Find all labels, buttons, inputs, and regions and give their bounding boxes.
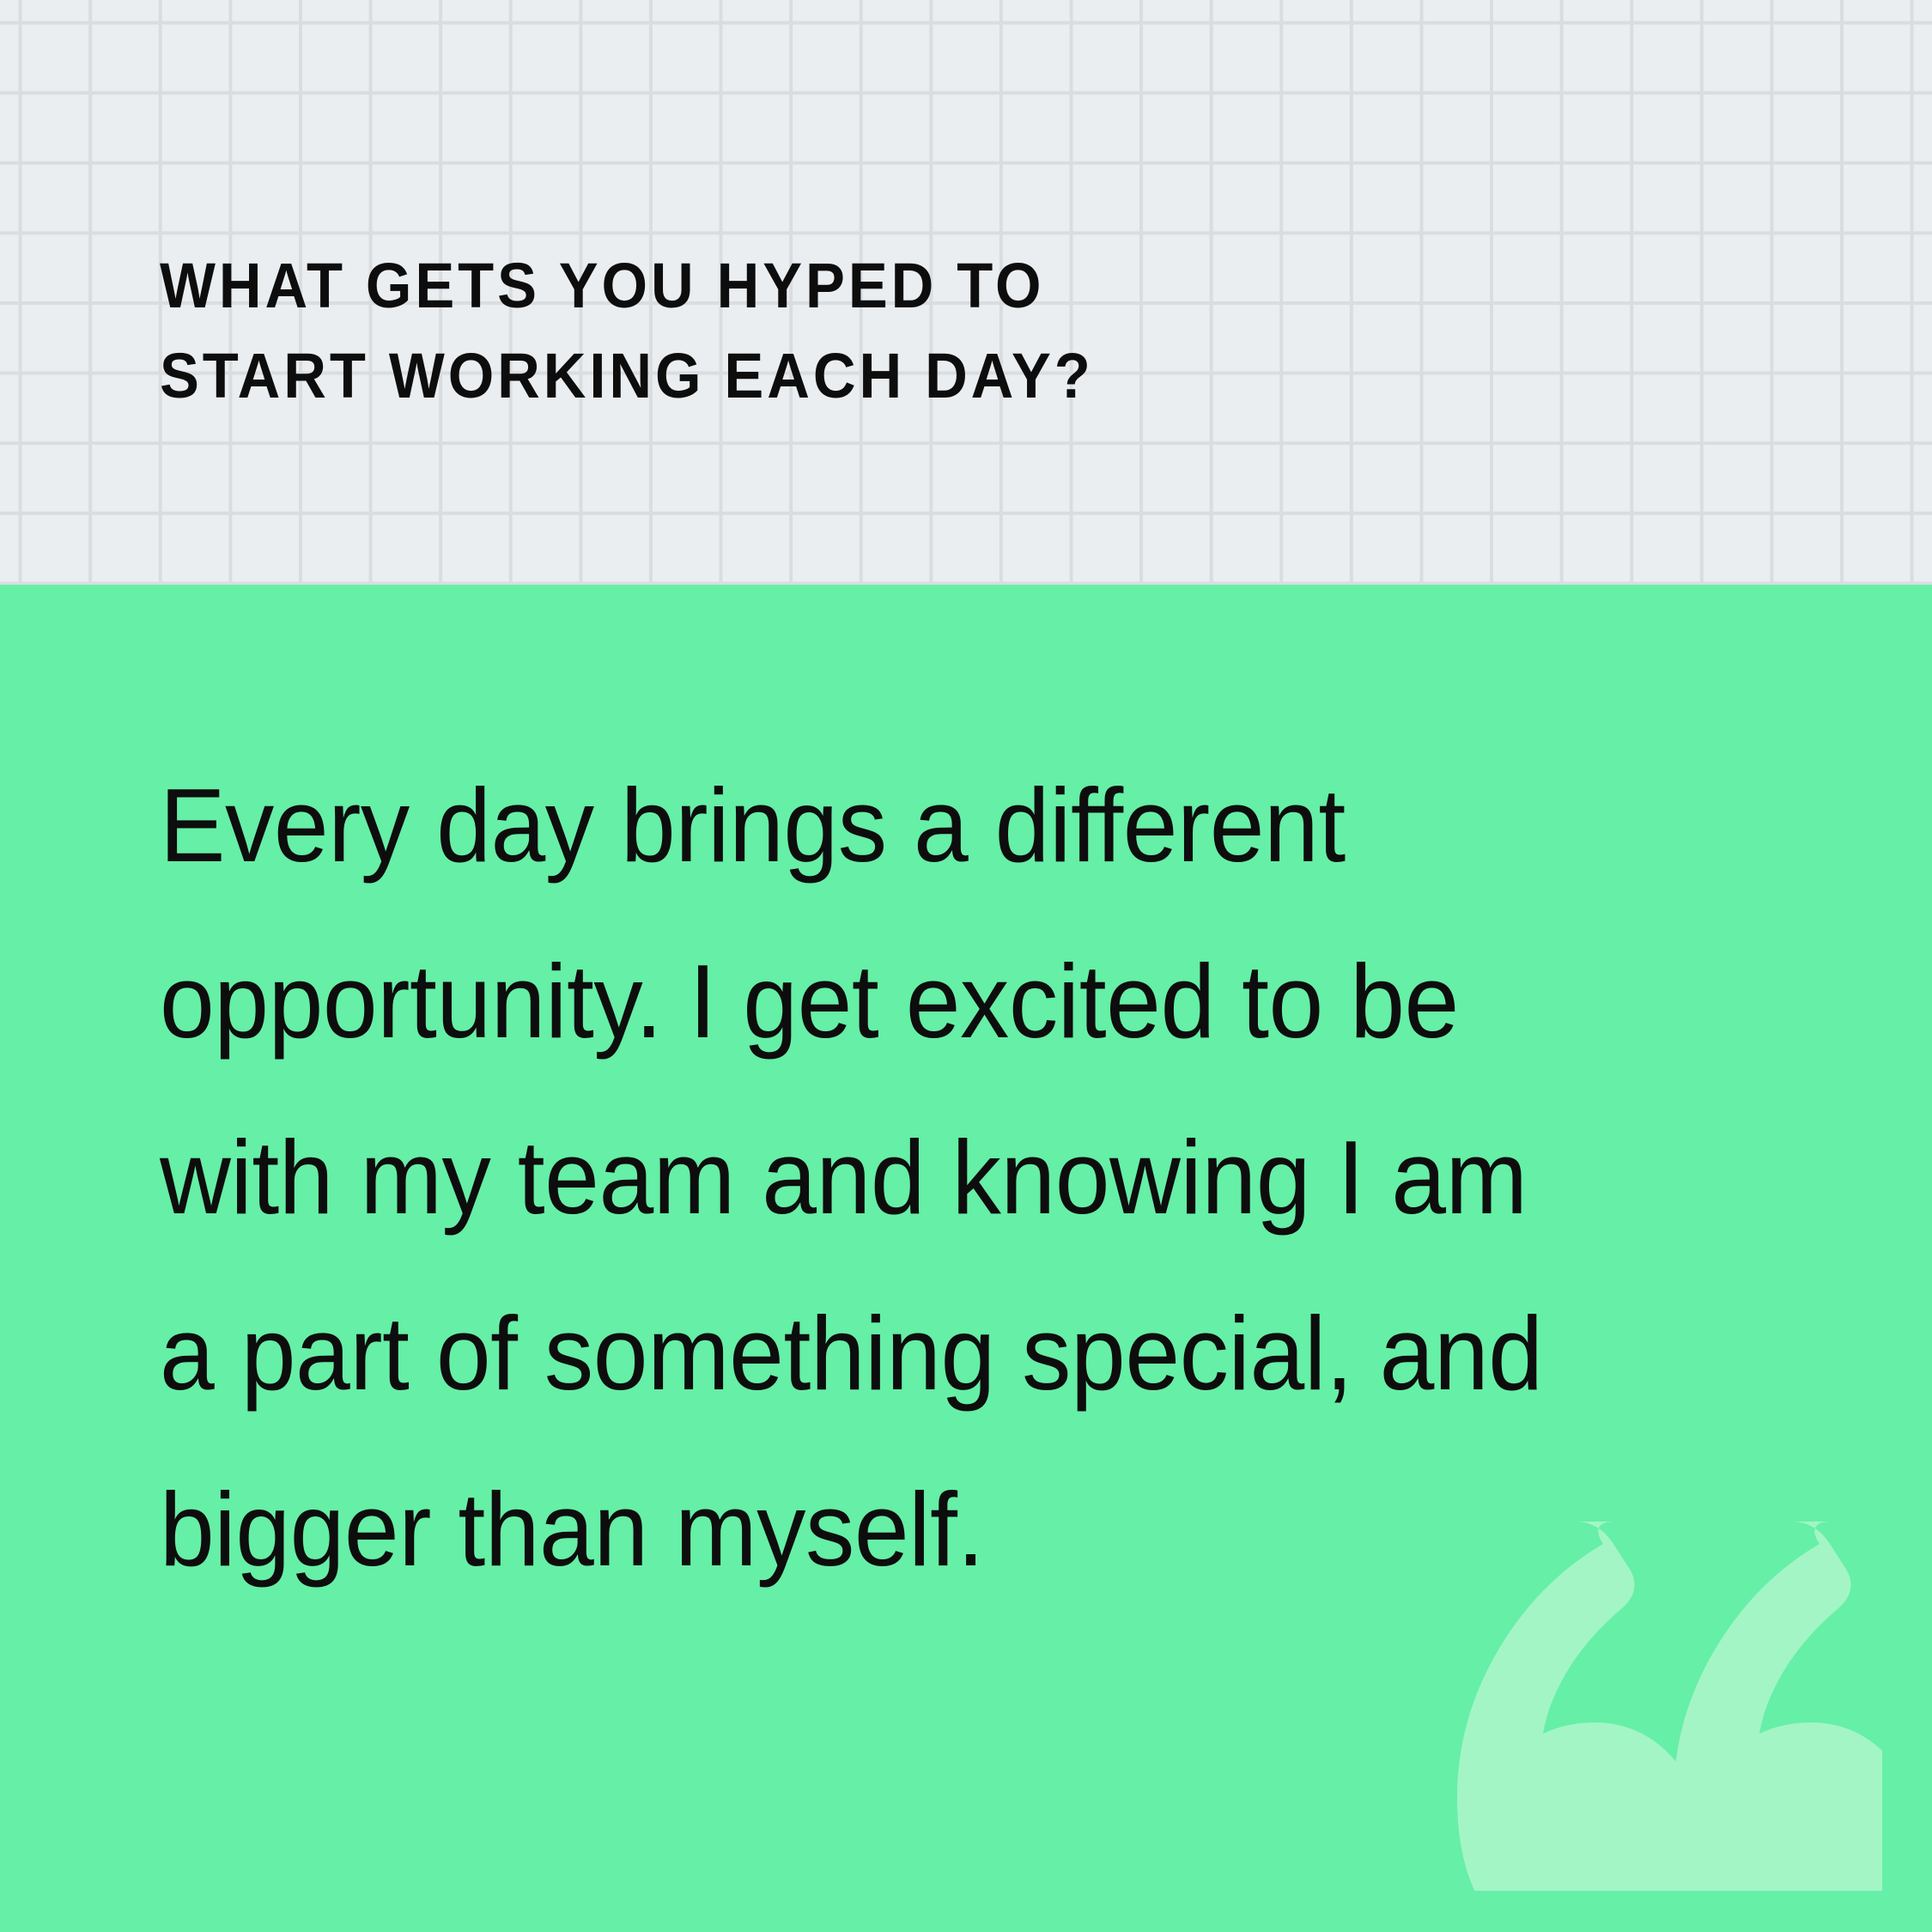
page-title: WHAT GETS YOU HYPED TO START WORKING EAC… xyxy=(160,240,1677,421)
header-section: WHAT GETS YOU HYPED TO START WORKING EAC… xyxy=(0,0,1932,585)
quote-body-text: Every day brings a different opportunity… xyxy=(160,738,1661,1618)
quote-card: WHAT GETS YOU HYPED TO START WORKING EAC… xyxy=(0,0,1932,1932)
quote-section: Every day brings a different opportunity… xyxy=(0,585,1932,1932)
